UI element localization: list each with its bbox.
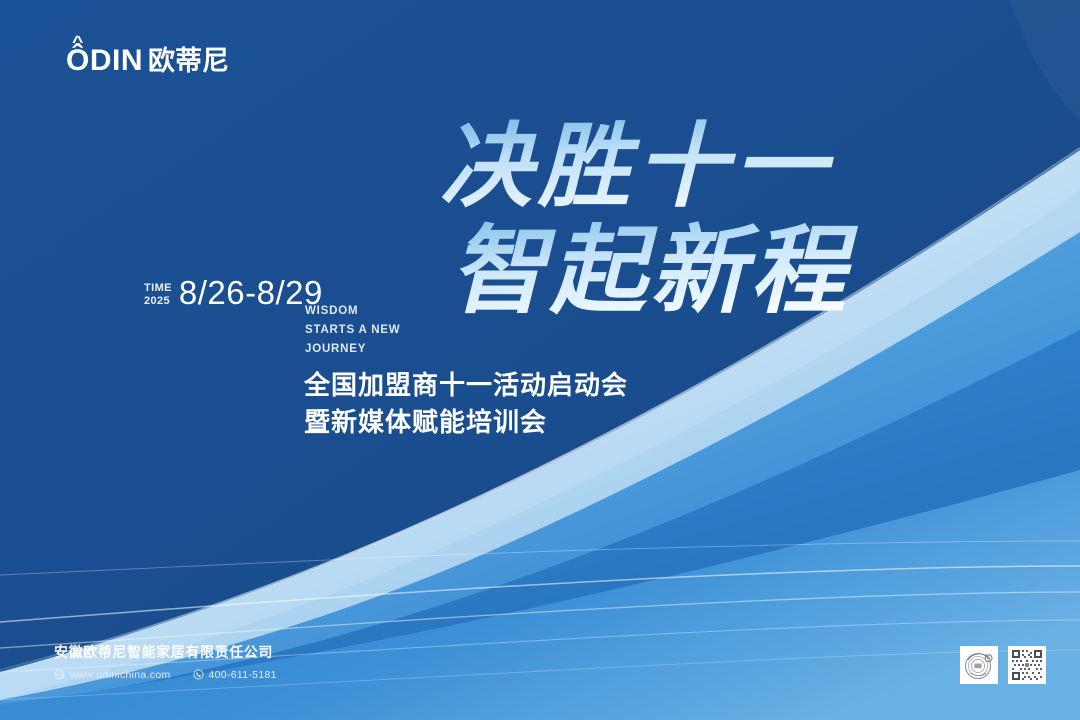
subtitle-line-1: 全国加盟商十一活动启动会: [304, 368, 628, 405]
footer-phone-text: 400-611-5181: [209, 669, 277, 681]
english-tagline: WISDOM STARTS A NEW JOURNEY: [305, 302, 400, 359]
background-waves: [0, 0, 1080, 720]
footer-badges: [960, 646, 1046, 684]
footer-block: 安徽欧蒂尼智能家居有限责任公司 www.odinichina.com 400-6…: [54, 645, 277, 681]
footer-company-name: 安徽欧蒂尼智能家居有限责任公司: [54, 645, 277, 662]
phone-icon: [193, 669, 204, 680]
footer-phone[interactable]: 400-611-5181: [193, 669, 277, 681]
logo-wordmark-chinese: 欧蒂尼: [148, 48, 229, 75]
time-label-year: 2025: [144, 295, 172, 308]
footer-contacts: www.odinichina.com 400-611-5181: [54, 669, 277, 681]
tagline-line-1: WISDOM: [305, 302, 400, 321]
poster-canvas: ÔDIN 欧蒂尼 决胜十一 智起新程 TIME: [0, 0, 1080, 720]
logo-o-circumflex: Ô: [66, 46, 90, 76]
seal-badge[interactable]: [960, 646, 998, 684]
time-label-stack: TIME 2025: [144, 282, 172, 308]
event-date-block: TIME 2025 8/26-8/29: [144, 276, 323, 309]
brand-logo: ÔDIN 欧蒂尼: [66, 46, 229, 76]
qr-code-icon: [1010, 648, 1044, 682]
globe-icon: [54, 669, 65, 680]
qr-code-badge[interactable]: [1008, 646, 1046, 684]
footer-website-text: www.odinichina.com: [70, 669, 171, 681]
seal-icon: [962, 648, 996, 682]
logo-wordmark-latin: ÔDIN: [66, 46, 143, 76]
event-date-range: 8/26-8/29: [179, 276, 323, 309]
logo-latin-rest: DIN: [90, 44, 143, 77]
time-label-word: TIME: [144, 282, 172, 295]
tagline-line-2: STARTS A NEW: [305, 321, 400, 340]
subtitle-line-2: 暨新媒体赋能培训会: [304, 405, 628, 442]
footer-website[interactable]: www.odinichina.com: [54, 669, 171, 681]
tagline-line-3: JOURNEY: [305, 340, 400, 359]
event-subtitle: 全国加盟商十一活动启动会 暨新媒体赋能培训会: [304, 368, 628, 442]
